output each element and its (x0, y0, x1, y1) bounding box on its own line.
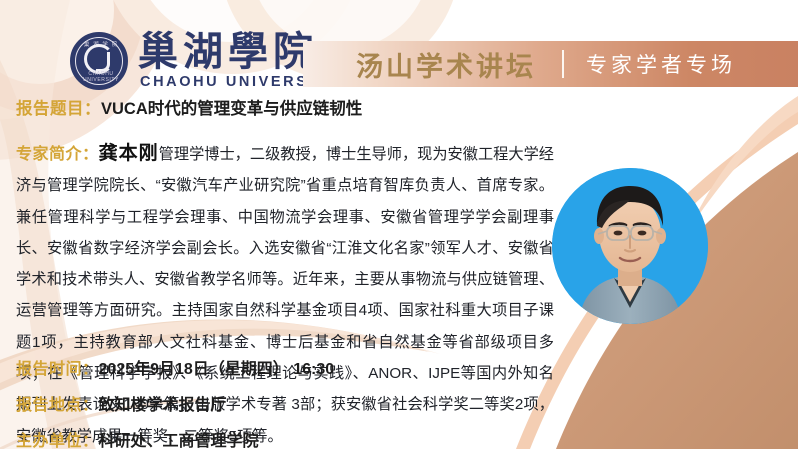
report-place-label: 报告地点： (16, 397, 99, 414)
forum-title-band: 汤山学术讲坛 专家学者专场 (303, 41, 798, 87)
report-title-label: 报告题目： (16, 100, 101, 118)
forum-subtitle: 专家学者专场 (586, 49, 736, 79)
report-time-row: 报告时间：2025年9月18日（星期四） 16:30 (16, 355, 334, 379)
report-host-row: 主办单位：科研处、工商管理学院 (16, 427, 259, 449)
university-seal-icon: 巢 湖 学 院 CHAOHU UNIVERSITY (70, 32, 128, 90)
report-time-label: 报告时间： (16, 361, 99, 378)
report-title-row: 报告题目：VUCA时代的管理变革与供应链韧性 (16, 98, 362, 120)
poster-header: 巢 湖 学 院 CHAOHU UNIVERSITY 巢湖學院 CHAOHU UN… (0, 0, 798, 96)
report-place-value: 致知楼学术报告厅 (99, 397, 227, 414)
forum-title: 汤山学术讲坛 (356, 45, 536, 84)
band-divider (562, 50, 564, 78)
report-title-value: VUCA时代的管理变革与供应链韧性 (101, 100, 362, 118)
report-host-label: 主办单位： (16, 433, 99, 449)
report-host-value: 科研处、工商管理学院 (99, 433, 259, 449)
speaker-bio-label: 专家简介： (16, 146, 99, 163)
seal-arc-bottom-text: CHAOHU UNIVERSITY (77, 71, 125, 83)
speaker-portrait (552, 168, 708, 324)
speaker-name: 龚本刚 (99, 143, 159, 164)
university-logo: 巢 湖 学 院 CHAOHU UNIVERSITY 巢湖學院 CHAOHU UN… (70, 32, 339, 90)
report-time-value: 2025年9月18日（星期四） 16:30 (99, 361, 335, 378)
seal-monogram (84, 44, 114, 74)
seminar-poster: 巢 湖 学 院 CHAOHU UNIVERSITY 巢湖學院 CHAOHU UN… (0, 0, 798, 449)
report-place-row: 报告地点：致知楼学术报告厅 (16, 391, 227, 415)
